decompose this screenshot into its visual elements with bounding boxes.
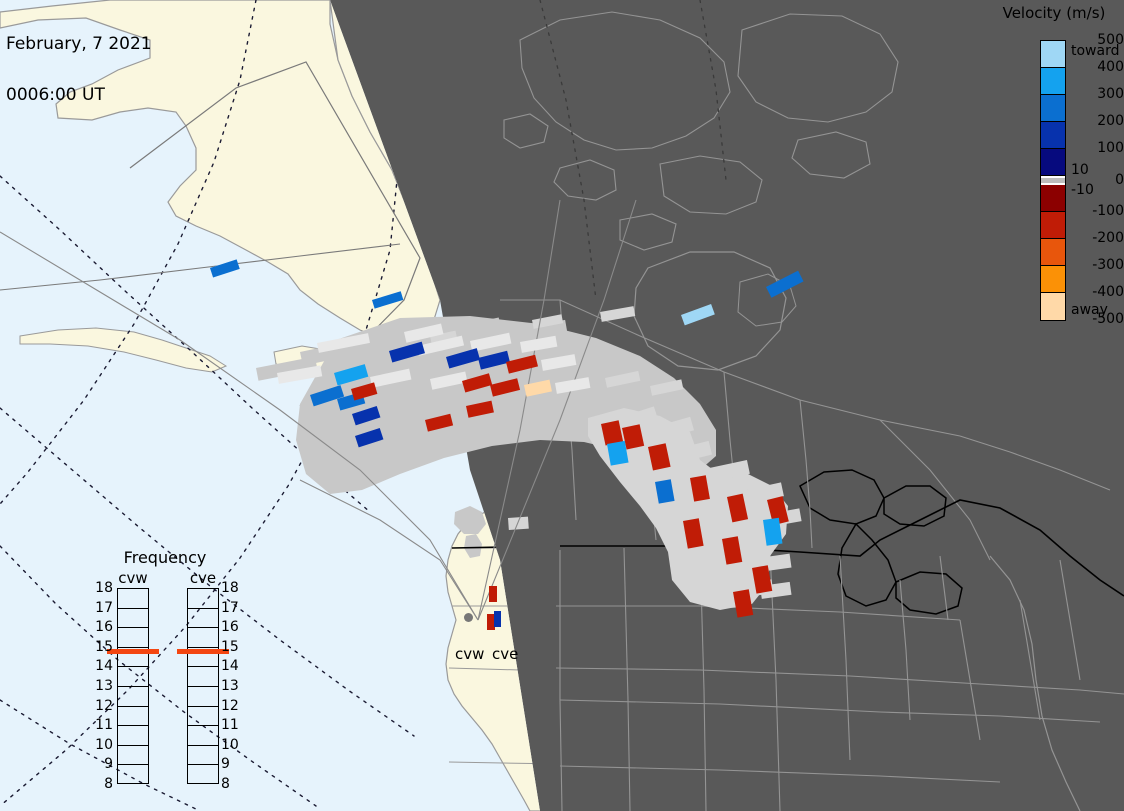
frequency-scale-label: 9 [221, 757, 243, 771]
velocity-cell [317, 333, 370, 353]
velocity-cell [733, 589, 753, 617]
colorbar-segment [1041, 239, 1065, 266]
colorbar-positive-threshold-label: 10 [1071, 163, 1089, 177]
frequency-gridline [117, 706, 149, 707]
frequency-gridline [187, 764, 219, 765]
frequency-scale-label: 10 [91, 738, 113, 752]
frequency-gridline [187, 666, 219, 667]
colorbar-segment [1041, 212, 1065, 239]
frequency-gridline [117, 725, 149, 726]
velocity-cell [489, 586, 497, 602]
colorbar-segment [1041, 68, 1065, 95]
colorbar-title: Velocity (m/s) [986, 4, 1122, 22]
velocity-cell [370, 369, 411, 388]
frequency-scale-label: 12 [221, 699, 243, 713]
colorbar-segment [1041, 95, 1065, 122]
velocity-cell [487, 614, 495, 630]
colorbar-tick-label: 200 [1072, 114, 1124, 128]
velocity-cell [494, 611, 501, 627]
velocity-cell [683, 518, 704, 548]
frequency-gridline [117, 608, 149, 609]
radar-site-label-cve: cve [492, 645, 518, 663]
frequency-scale-label: 13 [91, 679, 113, 693]
velocity-cell [727, 494, 748, 523]
colorbar-tick-label: 100 [1072, 141, 1124, 155]
frequency-column-header: cve [187, 569, 219, 587]
colorbar-tick-label: -400 [1072, 285, 1124, 299]
velocity-cell [555, 377, 590, 394]
velocity-cell [355, 428, 383, 447]
velocity-cell [372, 291, 403, 308]
velocity-cell [752, 565, 772, 593]
frequency-scale-label: 17 [221, 601, 243, 615]
velocity-colorbar: Velocity (m/s) 5004003002001000-100-200-… [985, 0, 1124, 340]
frequency-scale-label: 11 [221, 718, 243, 732]
frequency-gridline [187, 686, 219, 687]
radar-site-label-cvw: cvw [455, 645, 484, 663]
frequency-legend: Frequency cvw cve 1817161514131211109818… [95, 548, 235, 788]
colorbar-segment [1041, 293, 1065, 320]
frequency-scale-label: 14 [221, 659, 243, 673]
velocity-cell [506, 355, 538, 374]
velocity-cell [607, 441, 629, 466]
velocity-cell [655, 479, 675, 503]
velocity-cell [210, 259, 240, 277]
frequency-gridline [117, 764, 149, 765]
colorbar-tick-label: 300 [1072, 87, 1124, 101]
frequency-scale-label: 18 [221, 581, 243, 595]
colorbar-tick-label: -100 [1072, 204, 1124, 218]
frequency-scale-label: 14 [91, 659, 113, 673]
colorbar-away-label: away [1071, 303, 1108, 317]
frequency-scale-label: 10 [221, 738, 243, 752]
velocity-cell [462, 373, 492, 392]
velocity-cell [520, 336, 557, 353]
frequency-scale-label: 17 [91, 601, 113, 615]
frequency-gridline [187, 725, 219, 726]
velocity-cell [430, 372, 468, 390]
frequency-gridline [187, 608, 219, 609]
velocity-cell [446, 348, 480, 368]
colorbar-strip [1040, 40, 1066, 321]
colorbar-toward-label: toward [1071, 44, 1119, 58]
velocity-cell [648, 443, 671, 470]
velocity-cell [690, 475, 710, 501]
frequency-scale-label: 11 [91, 718, 113, 732]
velocity-cell [404, 323, 444, 342]
radar-map-figure: February, 7 2021 0006:00 UT Velocity (m/… [0, 0, 1124, 811]
velocity-cell [541, 354, 576, 371]
frequency-marker [107, 649, 159, 654]
colorbar-segment [1041, 266, 1065, 293]
velocity-cell [352, 406, 380, 425]
colorbar-segment [1041, 41, 1065, 68]
velocity-cell [351, 382, 377, 400]
frequency-scale-label: 15 [91, 640, 113, 654]
frequency-gridline [117, 647, 149, 648]
frequency-scale-label: 9 [91, 757, 113, 771]
frequency-scale-label: 8 [221, 777, 243, 791]
frequency-gridline [187, 627, 219, 628]
velocity-cell [524, 380, 552, 397]
frequency-gridline [187, 745, 219, 746]
velocity-cell [425, 414, 453, 432]
frequency-scale-label: 16 [221, 620, 243, 634]
velocity-cell [334, 364, 368, 385]
velocity-cell [490, 378, 520, 396]
velocity-cell [681, 304, 715, 325]
frequency-gridline [117, 627, 149, 628]
colorbar-zero-band [1041, 176, 1065, 185]
velocity-cell [601, 420, 623, 445]
colorbar-tick-label: 400 [1072, 60, 1124, 74]
frequency-column-header: cvw [117, 569, 149, 587]
velocity-cell [478, 351, 510, 370]
velocity-cell [389, 342, 425, 363]
velocity-cell [722, 536, 742, 564]
colorbar-negative-threshold-label: -10 [1071, 183, 1094, 197]
frequency-column-cvw: cvw [117, 588, 149, 784]
frequency-gridline [117, 666, 149, 667]
frequency-scale-label: 16 [91, 620, 113, 634]
colorbar-tick-label: -200 [1072, 231, 1124, 245]
colorbar-segment [1041, 185, 1065, 212]
frequency-column-cve: cve [187, 588, 219, 784]
frequency-scale-label: 12 [91, 699, 113, 713]
frequency-scale-label: 8 [91, 777, 113, 791]
frequency-gridline [117, 745, 149, 746]
frequency-gridline [187, 647, 219, 648]
velocity-cell [766, 271, 804, 298]
colorbar-segment [1041, 122, 1065, 149]
velocity-cell [466, 401, 494, 418]
frequency-scale-label: 18 [91, 581, 113, 595]
velocity-cell [277, 365, 322, 383]
radar-site-marker [464, 613, 473, 622]
colorbar-tick-label: -300 [1072, 258, 1124, 272]
timestamp: February, 7 2021 0006:00 UT [6, 2, 152, 138]
frequency-gridline [117, 686, 149, 687]
frequency-scale-label: 13 [221, 679, 243, 693]
frequency-gridline [187, 706, 219, 707]
colorbar-segment [1041, 149, 1065, 176]
time-text: 0006:00 UT [6, 87, 152, 104]
frequency-scale-label: 15 [221, 640, 243, 654]
frequency-legend-title: Frequency [95, 548, 235, 567]
date-text: February, 7 2021 [6, 36, 152, 53]
